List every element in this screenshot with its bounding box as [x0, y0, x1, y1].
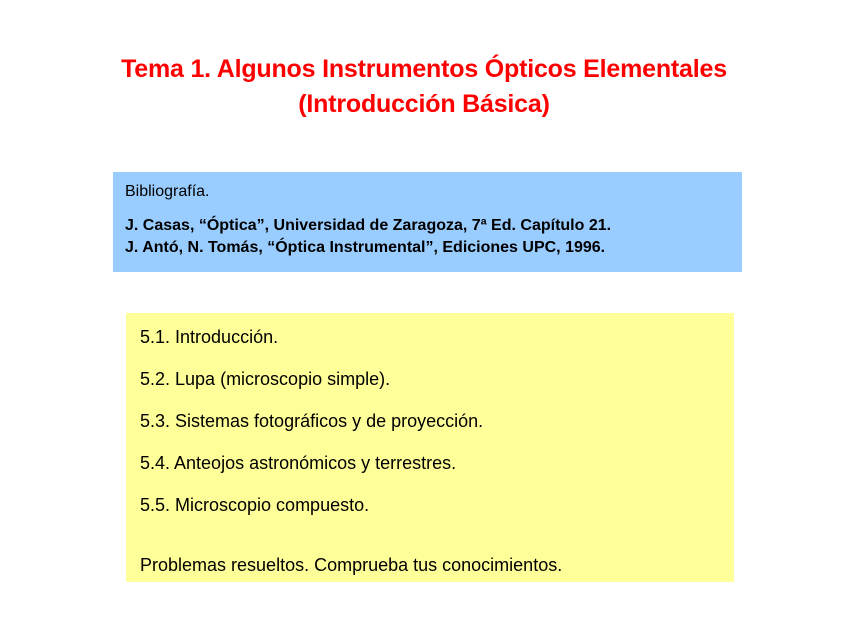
- contents-item: 5.5. Microscopio compuesto.: [140, 493, 734, 535]
- contents-item: Problemas resueltos. Comprueba tus conoc…: [140, 535, 734, 595]
- contents-box: 5.1. Introducción. 5.2. Lupa (microscopi…: [126, 313, 734, 582]
- page-title: Tema 1. Algunos Instrumentos Ópticos Ele…: [0, 52, 848, 122]
- contents-item: 5.4. Anteojos astronómicos y terrestres.: [140, 451, 734, 493]
- contents-item: 5.2. Lupa (microscopio simple).: [140, 367, 734, 409]
- bibliography-reference-list: J. Casas, “Óptica”, Universidad de Zarag…: [125, 215, 742, 259]
- bibliography-reference: J. Casas, “Óptica”, Universidad de Zarag…: [125, 215, 742, 237]
- bibliography-heading: Bibliografía.: [125, 181, 742, 203]
- bibliography-reference: J. Antó, N. Tomás, “Óptica Instrumental”…: [125, 237, 742, 259]
- page-title-line-1: Tema 1. Algunos Instrumentos Ópticos Ele…: [0, 52, 848, 87]
- contents-item: 5.3. Sistemas fotográficos y de proyecci…: [140, 409, 734, 451]
- contents-item: 5.1. Introducción.: [140, 325, 734, 367]
- slide-canvas: Tema 1. Algunos Instrumentos Ópticos Ele…: [0, 0, 848, 636]
- bibliography-box: Bibliografía. J. Casas, “Óptica”, Univer…: [113, 172, 742, 272]
- page-title-line-2: (Introducción Básica): [0, 87, 848, 122]
